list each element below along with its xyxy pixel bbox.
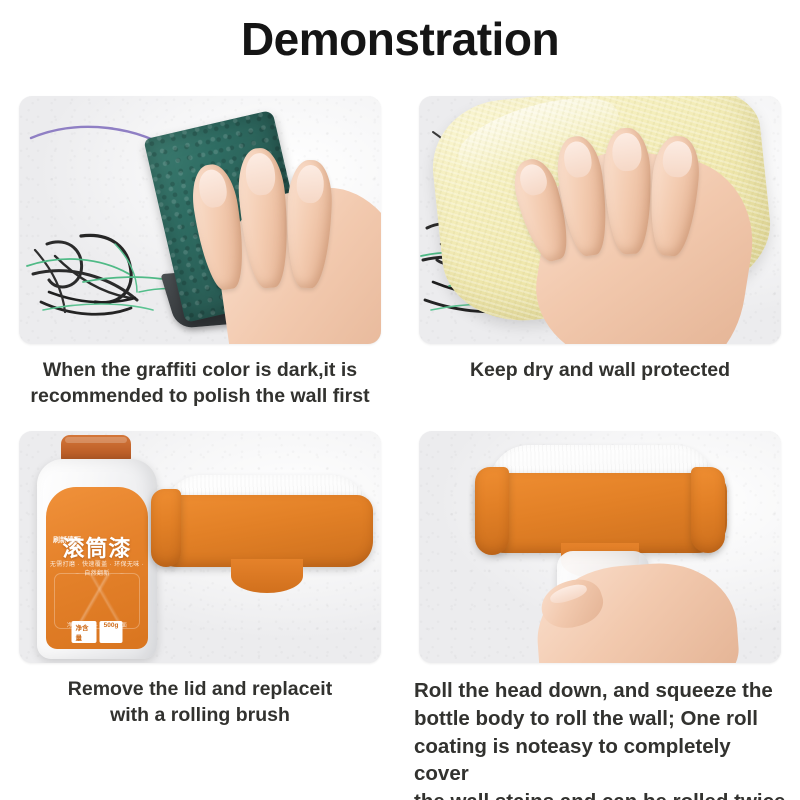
panel-sanding-photo: QETAO2 43 [19, 96, 381, 344]
caption-line: bottle body to roll the wall; One roll [414, 705, 786, 733]
caption-line: Remove the lid and replaceit [14, 677, 386, 703]
fingernail [244, 152, 276, 196]
hand-holding-block [185, 108, 375, 344]
label-weight-badge: 净含量 500g [72, 621, 123, 643]
weight-value: 500g [100, 621, 123, 643]
hand-wiping [519, 102, 769, 344]
panel-wiping-photo [419, 96, 781, 344]
panel-rolling-photo [419, 431, 781, 663]
bottle-label: 刷新墙面 滚筒漆 无需打磨 · 快速覆盖 · 环保无味 · 自然翻新 净含量规格… [46, 487, 148, 649]
panel-bottle-caption: Remove the lid and replaceit with a roll… [14, 663, 386, 728]
panel-sanding-caption: When the graffiti color is dark,it is re… [14, 344, 386, 409]
caption-line: the wall stains,and can be rolled twice [414, 788, 786, 800]
hand-gripping-bottle [537, 553, 747, 663]
fingernail [517, 161, 551, 198]
panel-rolling: Roll the head down, and squeeze the bott… [400, 431, 800, 800]
roller-brush-head [145, 469, 375, 629]
demonstration-page: Demonstration [0, 0, 800, 800]
fingernail [296, 165, 325, 204]
fingernail [548, 581, 589, 606]
fingernail [562, 140, 594, 179]
caption-line: Keep dry and wall protected [414, 358, 786, 384]
panel-bottle-photo: 刷新墙面 滚筒漆 无需打磨 · 快速覆盖 · 环保无味 · 自然翻新 净含量规格… [19, 431, 381, 663]
panel-row-top: QETAO2 43 When the graffiti color is dar… [0, 96, 800, 409]
panel-wiping-caption: Keep dry and wall protected [414, 344, 786, 384]
panel-row-bottom: 刷新墙面 滚筒漆 无需打磨 · 快速覆盖 · 环保无味 · 自然翻新 净含量规格… [0, 431, 800, 800]
fingernail [661, 140, 693, 178]
panel-grid: QETAO2 43 When the graffiti color is dar… [0, 96, 800, 800]
caption-line: with a rolling brush [14, 703, 386, 729]
weight-label: 净含量 [72, 621, 97, 643]
panel-sanding: QETAO2 43 When the graffiti color is dar… [0, 96, 400, 409]
roller-neck [231, 559, 303, 593]
roller-frame-left-arm [475, 467, 509, 555]
fingernail [612, 133, 642, 172]
caption-line: recommended to polish the wall first [14, 384, 386, 410]
panel-wiping: Keep dry and wall protected [400, 96, 800, 409]
fingernail [196, 168, 229, 210]
roller-frame [151, 495, 373, 567]
bottle-body: 刷新墙面 滚筒漆 无需打磨 · 快速覆盖 · 环保无味 · 自然翻新 净含量规格… [37, 459, 157, 659]
caption-line: coating is noteasy to completely cover [414, 733, 786, 788]
panel-rolling-caption: Roll the head down, and squeeze the bott… [414, 663, 786, 800]
roller-frame-left-arm [151, 489, 181, 567]
caption-line: When the graffiti color is dark,it is [14, 358, 386, 384]
roller-frame-right-arm [691, 467, 725, 553]
panel-bottle: 刷新墙面 滚筒漆 无需打磨 · 快速覆盖 · 环保无味 · 自然翻新 净含量规格… [0, 431, 400, 800]
caption-line: Roll the head down, and squeeze the [414, 677, 786, 705]
page-title: Demonstration [0, 0, 800, 66]
roller-frame [475, 473, 727, 553]
